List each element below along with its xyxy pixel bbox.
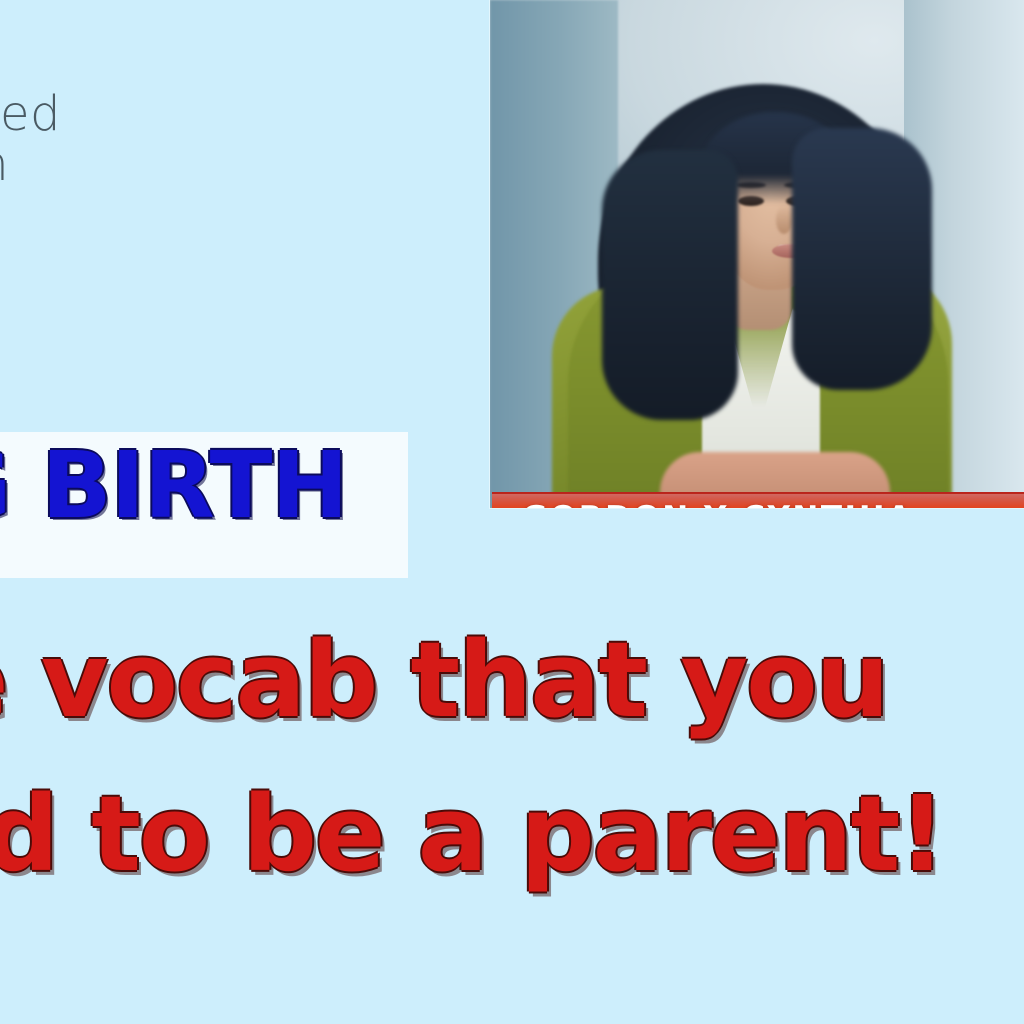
lower-third-name: GORDON Y CYNTHIA	[522, 500, 914, 508]
hair-right-strand	[792, 128, 932, 390]
nose	[776, 206, 792, 234]
brand-logo-line-1: Speed	[0, 92, 168, 136]
video-panel[interactable]: LightSpeed Spanish GORDON Y CYNTHIA	[490, 0, 1024, 508]
hair-left-strand	[602, 150, 738, 420]
red-headline-line-2: ed to be a parent!	[0, 782, 944, 886]
thumbnail-canvas: Speed nish	[0, 0, 1024, 1024]
brand-logo-line-2: nish	[0, 142, 168, 186]
brand-logo: Speed nish	[0, 92, 168, 186]
person-figure	[490, 0, 1024, 508]
lower-third-name-bar: GORDON Y CYNTHIA	[492, 492, 1024, 508]
red-headline-line-1: e vocab that you	[0, 628, 888, 732]
blue-headline-text: G BIRTH	[0, 440, 456, 532]
